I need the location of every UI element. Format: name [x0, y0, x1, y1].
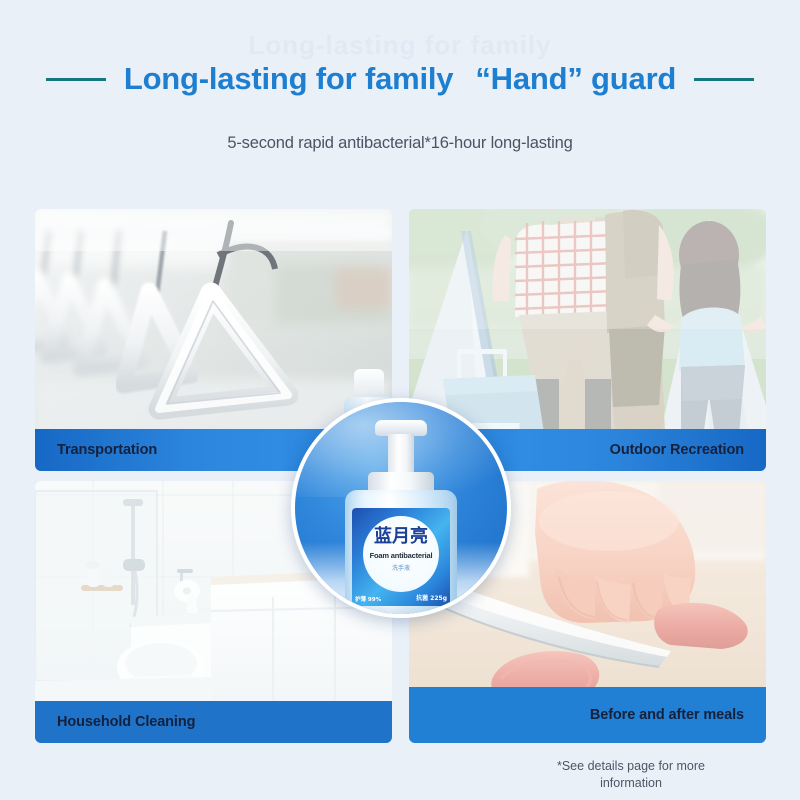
scene-label-household-cleaning: Household Cleaning [57, 713, 195, 731]
brand-name-cn: 蓝月亮 [374, 528, 428, 546]
header-section: Long-lasting for family Long-lasting for… [0, 0, 800, 185]
bottle-badge-left: 护薄 99% [355, 597, 381, 603]
right-rule-decoration [694, 78, 754, 81]
footnote: *See details page for more information [496, 758, 766, 792]
product-spotlight-circle[interactable]: 蓝月亮 Foam antibacterial 洗手液 护薄 99% 抗菌 225… [291, 398, 511, 618]
product-spotlight-inner: 蓝月亮 Foam antibacterial 洗手液 护薄 99% 抗菌 225… [295, 402, 507, 614]
bottle-label: 蓝月亮 Foam antibacterial 洗手液 护薄 99% 抗菌 225… [352, 508, 450, 606]
subheadline: 5-second rapid antibacterial*16-hour lon… [0, 134, 800, 153]
brand-name-en: Foam antibacterial [370, 551, 433, 560]
product-bottle: 蓝月亮 Foam antibacterial 洗手液 护薄 99% 抗菌 225… [342, 420, 460, 614]
left-rule-decoration [46, 78, 106, 81]
headline-primary: Long-lasting for family [124, 61, 454, 96]
bottle-badge-right: 抗菌 225g [416, 596, 447, 603]
scene-label-bar-household-cleaning: Household Cleaning [35, 701, 392, 743]
scene-label-before-and-after-meals: Before and after meals [590, 706, 744, 724]
bottle-label-disc: 蓝月亮 Foam antibacterial 洗手液 [363, 516, 439, 592]
bottle-pump-neck [388, 434, 414, 476]
headline-row: Long-lasting for family“Hand” guard [0, 56, 800, 102]
scene-label-bar-before-and-after-meals: Before and after meals [409, 687, 766, 743]
page-title: Long-lasting for family“Hand” guard [124, 61, 676, 97]
scene-label-transportation: Transportation [57, 441, 157, 459]
footnote-line-2: information [600, 776, 662, 790]
footnote-line-1: *See details page for more [557, 759, 705, 773]
brand-subtitle-cn: 洗手液 [392, 563, 410, 572]
headline-secondary: “Hand” guard [475, 61, 676, 96]
scene-label-outdoor-recreation: Outdoor Recreation [610, 441, 744, 459]
